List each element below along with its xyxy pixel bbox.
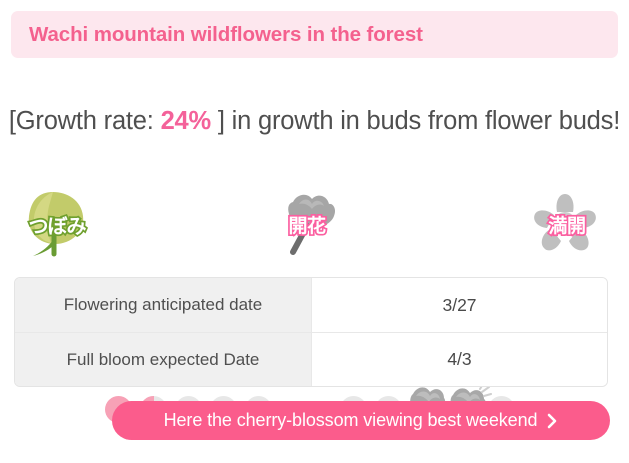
growth-rate-value: 24% [161, 107, 211, 135]
page-title: Wachi mountain wildflowers in the forest [11, 23, 423, 47]
full-bloom-stage-label: 満開 [548, 211, 585, 238]
flowering-stage-label: 開花 [288, 211, 325, 238]
growth-headline: [Growth rate: 24% ] in growth in buds fr… [0, 100, 629, 142]
chevron-right-icon [547, 413, 558, 429]
table-row-value: 3/27 [311, 278, 607, 332]
growth-headline-suffix: ] in growth in buds from flower buds! [211, 107, 620, 135]
growth-headline-prefix: [Growth rate: [9, 107, 161, 135]
table-row: Full bloom expected Date 4/3 [15, 332, 607, 386]
table-row-value: 4/3 [311, 332, 607, 386]
cta-button-label: Here the cherry-blossom viewing best wee… [164, 410, 538, 431]
full-bloom-stage-icon: 満開 [519, 186, 615, 262]
bloom-forecast-table: Flowering anticipated date 3/27 Full blo… [14, 277, 608, 387]
bloom-progress-strip: つぼみ 開花 [0, 186, 629, 262]
table-row-key: Flowering anticipated date [15, 278, 311, 332]
bud-stage-icon: つぼみ [9, 186, 105, 262]
flowering-stage-icon: 開花 [259, 186, 355, 262]
table-row: Flowering anticipated date 3/27 [15, 278, 607, 332]
cherry-blossom-weekend-button[interactable]: Here the cherry-blossom viewing best wee… [112, 401, 610, 440]
table-row-key: Full bloom expected Date [15, 332, 311, 386]
header-banner: Wachi mountain wildflowers in the forest [11, 11, 618, 58]
bud-stage-label: つぼみ [29, 210, 86, 239]
